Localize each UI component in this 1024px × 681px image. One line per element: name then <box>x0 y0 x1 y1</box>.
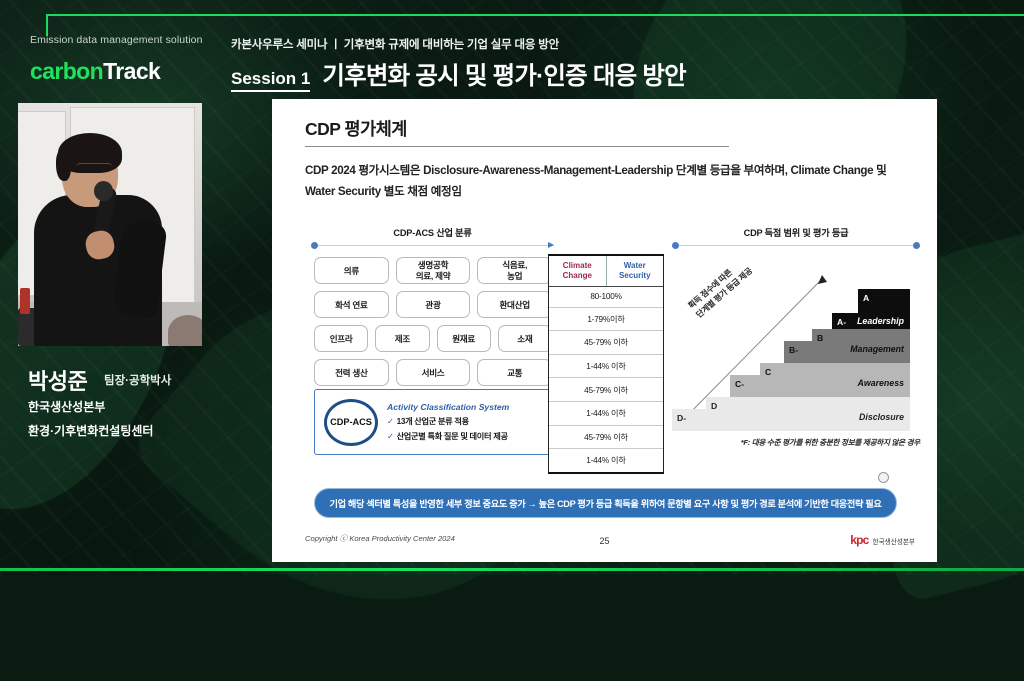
table-row: 80-100% <box>549 287 663 308</box>
step-grade-lower: A- <box>837 317 846 327</box>
kpc-logo: kpc 한국생산성본부 <box>850 533 915 547</box>
industry-box[interactable]: 서비스 <box>396 359 471 386</box>
step-grade-lower: B- <box>789 345 798 355</box>
step-grade-upper: B <box>817 333 823 343</box>
session-label: Session 1 <box>231 69 310 92</box>
sidebar: Emission data management solution carbon… <box>0 0 218 575</box>
section-dot-right-icon <box>913 242 920 249</box>
slide-viewer: Emission data management solution carbon… <box>0 0 1024 575</box>
industry-box[interactable]: 의류 <box>314 257 389 284</box>
step-grade-upper: A <box>863 293 869 303</box>
acs-circle-badge: CDP-ACS <box>324 399 378 446</box>
step-tier-label: Leadership <box>857 316 904 326</box>
industry-box[interactable]: 생명공학의료, 제약 <box>396 257 471 284</box>
step-grade-upper: C <box>765 367 771 377</box>
speaker-name: 박성준 <box>28 364 87 396</box>
step-tier-label: Disclosure <box>859 412 904 422</box>
industry-box[interactable]: 전력 생산 <box>314 359 389 386</box>
photo-object-right <box>168 315 202 346</box>
acs-callout: CDP-ACS Activity Classification System ✓… <box>314 389 552 455</box>
step-tier-label: Management <box>850 344 904 354</box>
industry-box[interactable]: 환대산업 <box>477 291 552 318</box>
summary-banner: 기업 해당 섹터별 특성을 반영한 세부 정보 중요도 증가 → 높은 CDP … <box>314 488 897 518</box>
table-body: 80-100%1-79%이하45-79% 이하1-44% 이하45-79% 이하… <box>549 287 663 472</box>
speaker-department: 환경·기후변화컨설팅센터 <box>28 422 153 439</box>
section-dot-left-icon <box>672 242 679 249</box>
brand-name-track: Track <box>103 58 160 84</box>
photo-person-sideburn <box>56 149 71 181</box>
session-header: Session 1 기후변화 공시 및 평가·인증 대응 방안 <box>231 57 686 92</box>
industry-box[interactable]: 관광 <box>396 291 471 318</box>
table-header-row: ClimateChange WaterSecurity <box>549 256 663 287</box>
section-dot-left-icon <box>311 242 318 249</box>
slide-heading: CDP 평가체계 <box>305 116 407 141</box>
photo-microphone-head <box>94 181 113 201</box>
acs-text-block: Activity Classification System ✓13개 산업군 … <box>387 402 509 442</box>
step-grade-lower: D- <box>677 413 686 423</box>
photo-extinguisher <box>20 288 30 314</box>
speaker-role: 팀장·공학박사 <box>104 372 171 388</box>
section-rule <box>311 245 554 246</box>
step-tier-label: Awareness <box>858 378 904 388</box>
acs-bullet-label: 산업군별 특화 질문 및 데이터 제공 <box>397 432 508 441</box>
score-range-table: ClimateChange WaterSecurity 80-100%1-79%… <box>548 254 664 474</box>
table-row: 45-79% 이하 <box>549 426 663 450</box>
slide-canvas: CDP 평가체계 CDP 2024 평가시스템은 Disclosure-Awar… <box>272 99 937 562</box>
table-header-water-security: WaterSecurity <box>607 256 664 286</box>
industry-row: 의류생명공학의료, 제약식음료,농업 <box>314 257 552 284</box>
section-arrow-icon <box>548 242 554 248</box>
industry-classification-grid: 의류생명공학의료, 제약식음료,농업화석 연료관광환대산업인프라제조원재료소재전… <box>314 257 552 393</box>
speaker-organization: 한국생산성본부 <box>28 398 105 415</box>
industry-box[interactable]: 인프라 <box>314 325 368 352</box>
industry-box[interactable]: 화석 연료 <box>314 291 389 318</box>
table-row: 45-79% 이하 <box>549 331 663 355</box>
acs-heading: Activity Classification System <box>387 402 509 412</box>
step-grade-lower: C- <box>735 379 744 389</box>
brand-name-carbon: carbon <box>30 58 103 84</box>
industry-box[interactable]: 식음료,농업 <box>477 257 552 284</box>
table-row: 1-79%이하 <box>549 308 663 332</box>
acs-bullet: ✓13개 산업군 분류 적용 <box>387 415 509 427</box>
section-header-industry: CDP-ACS 산업 분류 <box>311 227 554 249</box>
seminar-subtitle: 카본사우루스 세미나 ㅣ 기후변화 규제에 대비하는 기업 실무 대응 방안 <box>231 36 559 52</box>
speaker-photo <box>18 103 202 346</box>
grade-staircase-chart: 획득 점수에 따른단계별 평가 등급 제공 A-ALeadershipB-BMa… <box>672 269 910 431</box>
staircase-step-disclosure: D-DDisclosure <box>672 397 910 431</box>
section-header-grades: CDP 득점 범위 및 평가 등급 <box>672 227 920 249</box>
industry-box[interactable]: 소재 <box>498 325 552 352</box>
industry-row: 화석 연료관광환대산업 <box>314 291 552 318</box>
check-icon: ✓ <box>387 432 394 441</box>
table-row: 1-44% 이하 <box>549 355 663 379</box>
table-header-climate-change: ClimateChange <box>549 256 607 286</box>
section-rule <box>672 245 920 246</box>
brand-tagline: Emission data management solution <box>30 34 203 46</box>
section-label-grades: CDP 득점 범위 및 평가 등급 <box>672 225 920 239</box>
table-row: 1-44% 이하 <box>549 402 663 426</box>
staircase-footnote: *F: 대응 수준 평가를 위한 충분한 정보를 제공하지 않은 경우 <box>672 437 920 448</box>
industry-row: 전력 생산서비스교통 <box>314 359 552 386</box>
kpc-logo-mark: kpc <box>850 533 868 547</box>
table-row: 1-44% 이하 <box>549 449 663 472</box>
industry-box[interactable]: 교통 <box>477 359 552 386</box>
section-label-industry: CDP-ACS 산업 분류 <box>311 225 554 239</box>
check-icon: ✓ <box>387 417 394 426</box>
table-row: 45-79% 이하 <box>549 378 663 402</box>
photo-person-glasses <box>76 163 112 172</box>
page-title: 기후변화 공시 및 평가·인증 대응 방안 <box>322 57 686 92</box>
loading-cursor-icon <box>878 472 889 483</box>
step-grade-upper: D <box>711 401 717 411</box>
industry-box[interactable]: 제조 <box>375 325 429 352</box>
page-number: 25 <box>272 536 937 546</box>
acs-bullet-label: 13개 산업군 분류 적용 <box>397 417 469 426</box>
industry-box[interactable]: 원재료 <box>437 325 491 352</box>
slide-lead-text: CDP 2024 평가시스템은 Disclosure-Awareness-Man… <box>305 160 913 202</box>
industry-row: 인프라제조원재료소재 <box>314 325 552 352</box>
kpc-logo-sub: 한국생산성본부 <box>873 536 915 546</box>
slide-heading-rule <box>305 146 729 147</box>
brand-logo: carbonTrack <box>30 58 160 85</box>
acs-bullet: ✓산업군별 특화 질문 및 데이터 제공 <box>387 430 509 442</box>
